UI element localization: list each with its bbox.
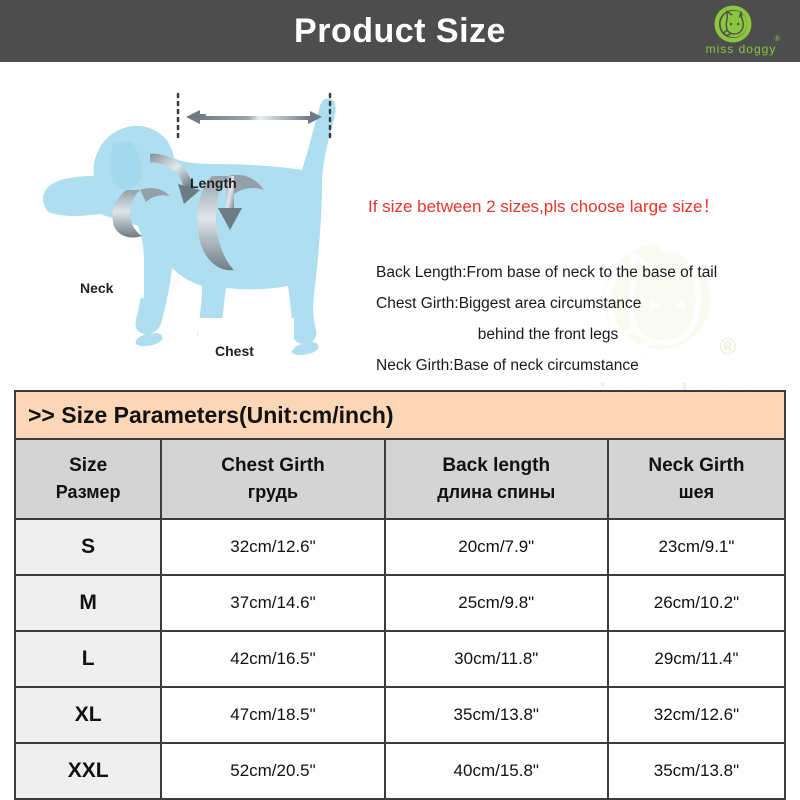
table-header-row: Size Размер Chest Girth грудь Back lengt…	[15, 439, 785, 519]
cell-back: 20cm/7.9"	[385, 519, 608, 575]
cell-neck: 32cm/12.6"	[608, 687, 785, 743]
cell-chest: 52cm/20.5"	[161, 743, 384, 799]
measurement-diagram-area: Length Neck Chest ® miss doggy If size b…	[0, 62, 800, 380]
size-table-banner-text: >> Size Parameters(Unit:cm/inch)	[28, 402, 394, 429]
column-header-size: Size Размер	[15, 439, 161, 519]
cell-back: 30cm/11.8"	[385, 631, 608, 687]
measurement-descriptions: Back Length:From base of neck to the bas…	[376, 257, 796, 381]
table-row: L 42cm/16.5" 30cm/11.8" 29cm/11.4"	[15, 631, 785, 687]
column-header-neck-ru: шея	[610, 479, 783, 505]
chest-label: Chest	[215, 343, 254, 359]
cell-chest: 37cm/14.6"	[161, 575, 384, 631]
cell-neck: 29cm/11.4"	[608, 631, 785, 687]
page-title: Product Size	[294, 12, 506, 51]
column-header-back-en: Back length	[442, 455, 550, 476]
column-header-back-ru: длина спины	[387, 479, 606, 505]
size-table-section: >> Size Parameters(Unit:cm/inch) Size Ра…	[14, 390, 786, 800]
length-label: Length	[190, 175, 237, 191]
cell-size: S	[15, 519, 161, 575]
cell-size: M	[15, 575, 161, 631]
neck-label: Neck	[80, 280, 113, 296]
column-header-neck: Neck Girth шея	[608, 439, 785, 519]
table-row: S 32cm/12.6" 20cm/7.9" 23cm/9.1"	[15, 519, 785, 575]
description-chest-girth: Chest Girth:Biggest area circumstance	[376, 288, 796, 319]
size-notice: If size between 2 sizes,pls choose large…	[368, 192, 788, 217]
dog-head-logo-icon	[712, 4, 754, 44]
cell-size: XL	[15, 687, 161, 743]
column-header-chest-ru: грудь	[163, 479, 382, 505]
cell-size: XXL	[15, 743, 161, 799]
description-chest-girth-cont: behind the front legs	[376, 319, 796, 350]
cell-chest: 42cm/16.5"	[161, 631, 384, 687]
column-header-neck-en: Neck Girth	[648, 455, 744, 476]
brand-wordmark: miss doggy	[698, 42, 784, 56]
column-header-back: Back length длина спины	[385, 439, 608, 519]
table-row: XXL 52cm/20.5" 40cm/15.8" 35cm/13.8"	[15, 743, 785, 799]
dog-silhouette-diagram	[30, 72, 370, 362]
cell-back: 35cm/13.8"	[385, 687, 608, 743]
column-header-chest: Chest Girth грудь	[161, 439, 384, 519]
size-table-banner: >> Size Parameters(Unit:cm/inch)	[14, 390, 786, 438]
cell-neck: 35cm/13.8"	[608, 743, 785, 799]
cell-neck: 23cm/9.1"	[608, 519, 785, 575]
size-parameters-table: Size Размер Chest Girth грудь Back lengt…	[14, 438, 786, 800]
column-header-size-en: Size	[69, 455, 107, 476]
cell-chest: 32cm/12.6"	[161, 519, 384, 575]
page-header: Product Size ® miss doggy	[0, 0, 800, 62]
description-neck-girth: Neck Girth:Base of neck circumstance	[376, 350, 796, 381]
brand-logo: ® miss doggy	[698, 4, 784, 60]
column-header-chest-en: Chest Girth	[221, 455, 324, 476]
cell-chest: 47cm/18.5"	[161, 687, 384, 743]
cell-back: 25cm/9.8"	[385, 575, 608, 631]
column-header-size-ru: Размер	[17, 479, 159, 505]
description-back-length: Back Length:From base of neck to the bas…	[376, 257, 796, 288]
table-row: XL 47cm/18.5" 35cm/13.8" 32cm/12.6"	[15, 687, 785, 743]
table-row: M 37cm/14.6" 25cm/9.8" 26cm/10.2"	[15, 575, 785, 631]
cell-size: L	[15, 631, 161, 687]
cell-back: 40cm/15.8"	[385, 743, 608, 799]
cell-neck: 26cm/10.2"	[608, 575, 785, 631]
